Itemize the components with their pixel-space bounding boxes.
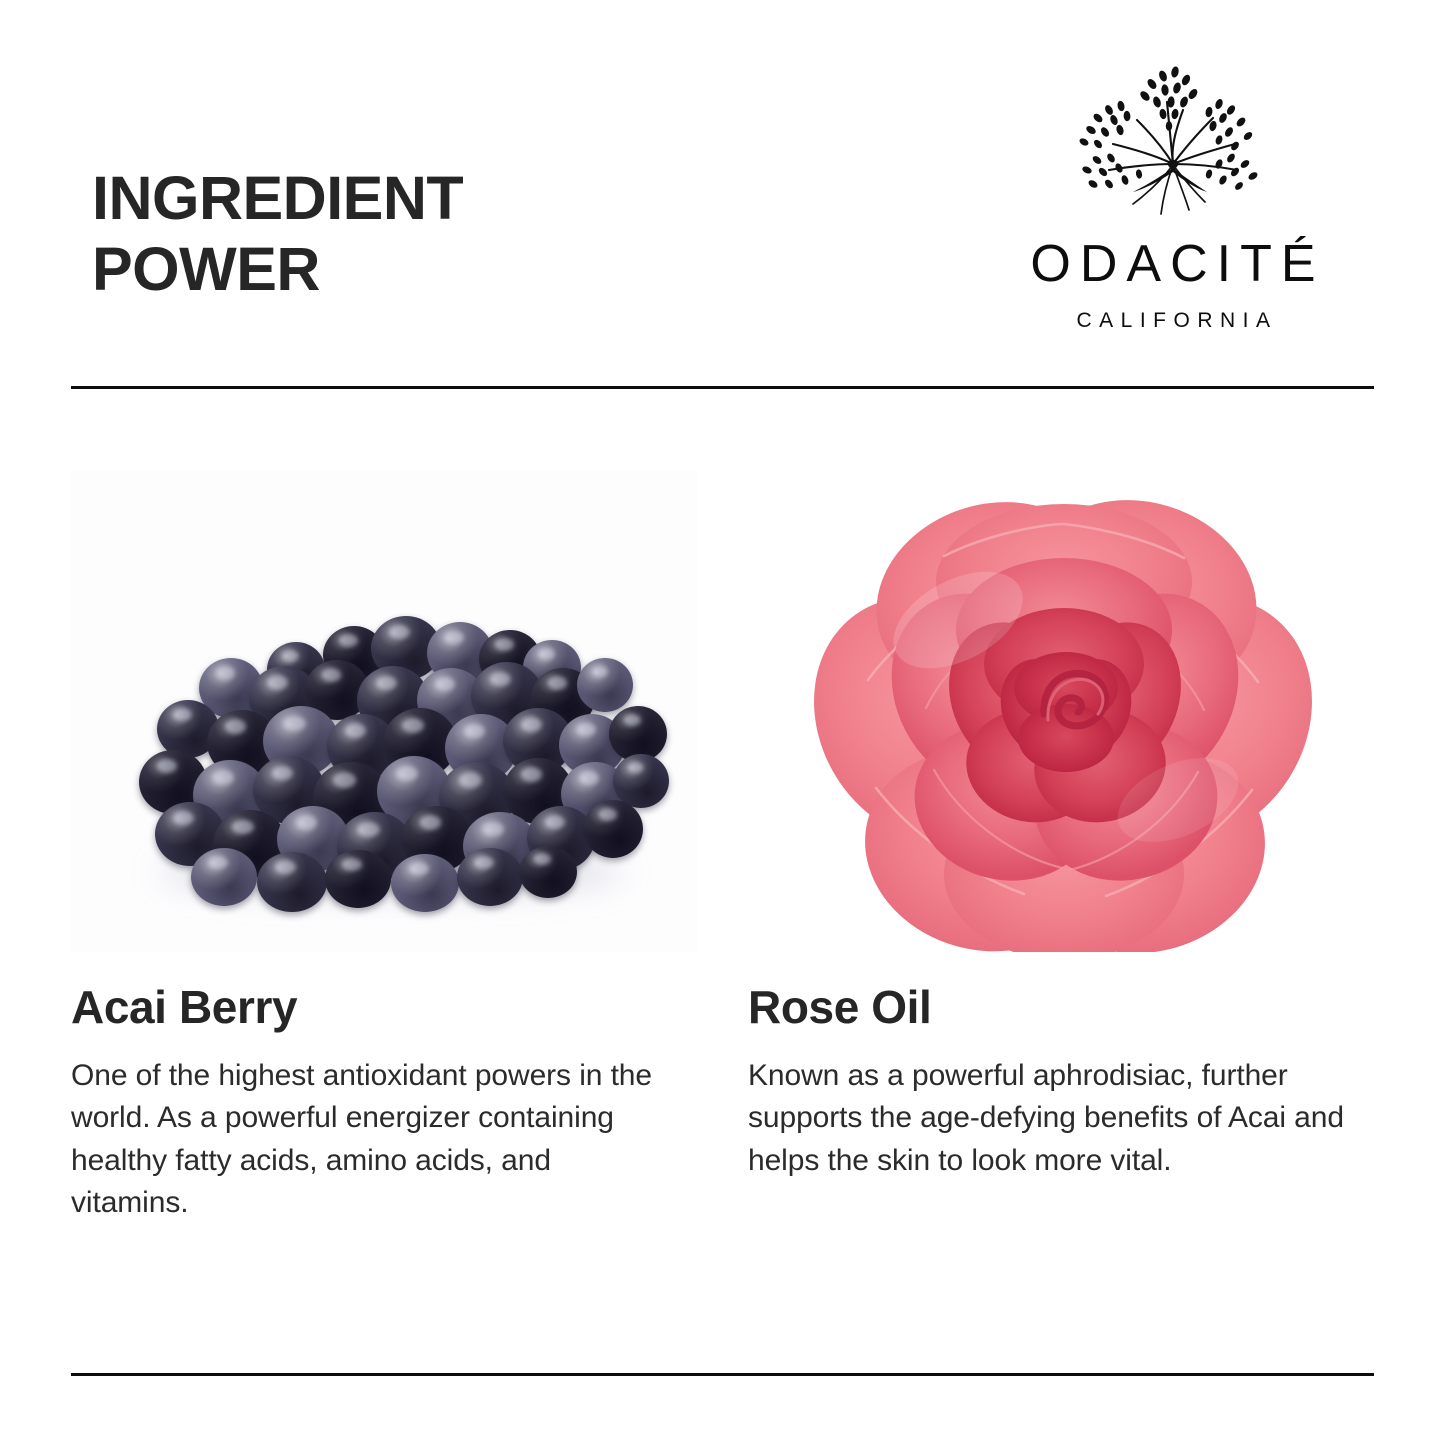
page-header: INGREDIENT POWER — [0, 0, 1445, 388]
ingredient-name: Rose Oil — [748, 982, 1375, 1033]
ingredient-card-rose-oil: Rose Oil Known as a powerful aphrodisiac… — [748, 470, 1375, 1182]
ingredient-description: One of the highest antioxidant powers in… — [71, 1055, 671, 1225]
logo-wordmark: ODACITÉ — [973, 238, 1373, 290]
dandelion-umbel-icon — [1053, 52, 1293, 232]
blueberry-pile-image — [71, 470, 698, 952]
rose-bloom-illustration — [748, 470, 1375, 952]
logo-tagline: CALIFORNIA — [973, 310, 1373, 331]
page-title: INGREDIENT POWER — [92, 163, 712, 305]
pink-rose-image — [748, 470, 1375, 952]
brand-logo: ODACITÉ CALIFORNIA — [973, 52, 1373, 331]
ingredient-description: Known as a powerful aphrodisiac, further… — [748, 1055, 1348, 1183]
ingredient-columns: Acai Berry One of the highest antioxidan… — [0, 470, 1445, 1330]
divider-bottom — [71, 1373, 1374, 1376]
ingredient-name: Acai Berry — [71, 982, 698, 1033]
divider-top — [71, 386, 1374, 389]
berry-pile — [71, 470, 698, 952]
ingredient-card-acai-berry: Acai Berry One of the highest antioxidan… — [71, 470, 698, 1225]
ingredient-power-page: INGREDIENT POWER — [0, 0, 1445, 1445]
